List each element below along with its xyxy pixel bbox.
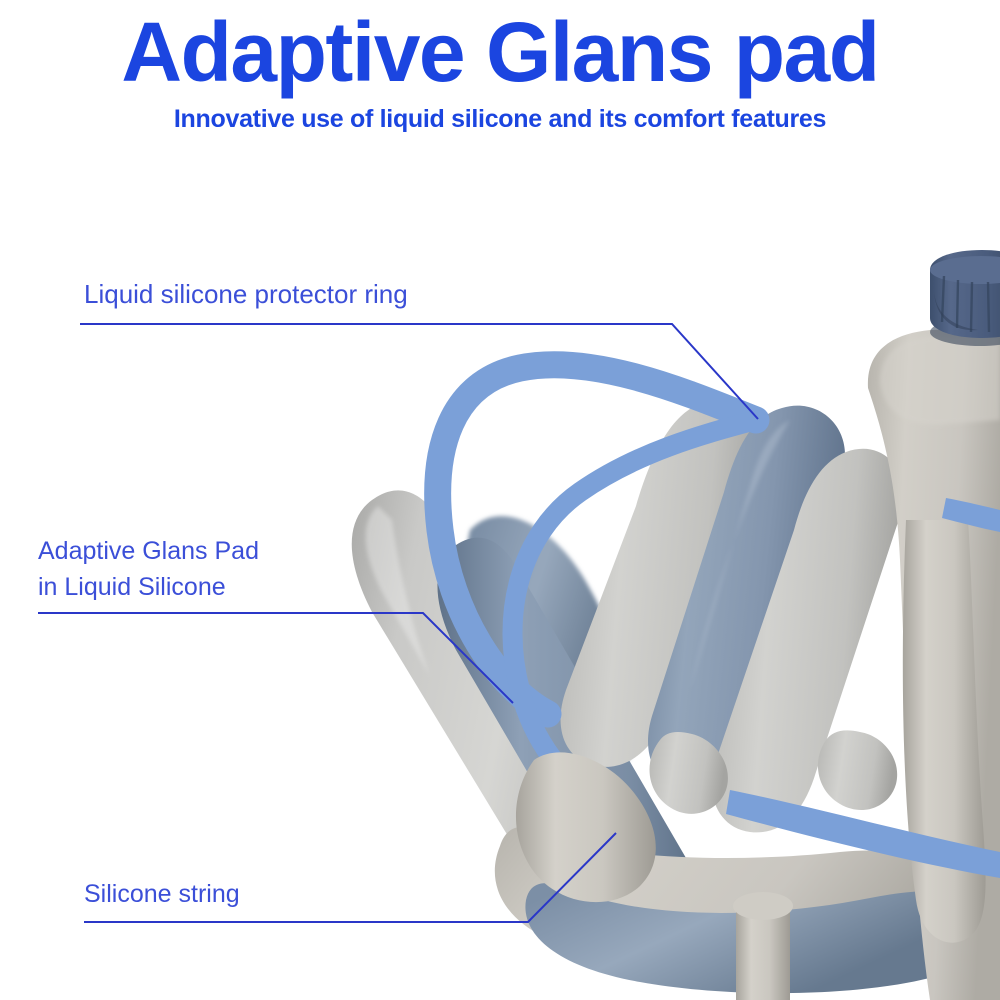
page-subtitle: Innovative use of liquid silicone and it…	[0, 104, 1000, 134]
callout-line: Adaptive Glans Pad	[38, 533, 259, 569]
callout-label-protector-ring: Liquid silicone protector ring	[84, 278, 408, 310]
callout-line: Liquid silicone protector ring	[84, 278, 408, 310]
callout-label-silicone-string: Silicone string	[84, 878, 240, 910]
callout-line: in Liquid Silicone	[38, 569, 259, 605]
callout-label-adaptive-glans-pad: Adaptive Glans Pad in Liquid Silicone	[38, 533, 259, 605]
poster-header: Adaptive Glans pad Innovative use of liq…	[0, 0, 1000, 150]
callout-leader-lines	[0, 0, 1000, 1000]
poster-root: Adaptive Glans pad Innovative use of liq…	[0, 0, 1000, 1000]
page-title: Adaptive Glans pad	[0, 6, 1000, 98]
callout-line: Silicone string	[84, 878, 240, 910]
leader-line-adaptive-glans-pad	[38, 613, 513, 703]
leader-line-protector-ring	[80, 324, 758, 419]
